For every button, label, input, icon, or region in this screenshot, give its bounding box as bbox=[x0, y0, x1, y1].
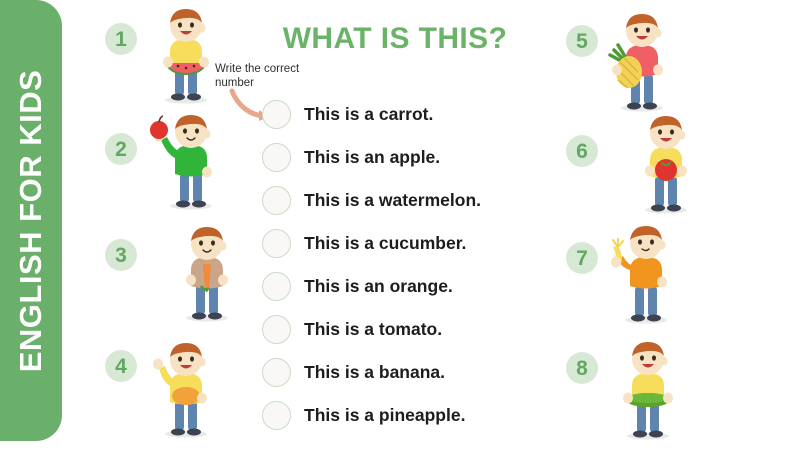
character-7-banana bbox=[604, 220, 682, 324]
character-3-carrot bbox=[170, 222, 244, 322]
character-2-apple bbox=[146, 112, 226, 210]
answer-label: This is a pineapple. bbox=[304, 405, 465, 426]
character-6-tomato bbox=[628, 108, 704, 214]
sidebar-title: ENGLISH FOR KIDS bbox=[13, 69, 49, 372]
hint-text: Write the correct number bbox=[215, 62, 313, 90]
answer-row[interactable]: This is an orange. bbox=[262, 265, 522, 308]
answer-label: This is a cucumber. bbox=[304, 233, 466, 254]
answer-input-circle[interactable] bbox=[262, 358, 291, 387]
answer-row[interactable]: This is an apple. bbox=[262, 136, 522, 179]
answer-row[interactable]: This is a carrot. bbox=[262, 93, 522, 136]
answer-row[interactable]: This is a banana. bbox=[262, 351, 522, 394]
answer-row[interactable]: This is a tomato. bbox=[262, 308, 522, 351]
number-badge-4: 4 bbox=[105, 350, 137, 382]
sidebar-banner: ENGLISH FOR KIDS bbox=[0, 0, 62, 441]
answer-input-circle[interactable] bbox=[262, 186, 291, 215]
character-1-watermelon bbox=[148, 8, 224, 104]
number-badge-2: 2 bbox=[105, 133, 137, 165]
page-title: WHAT IS THIS? bbox=[265, 22, 525, 56]
answer-list: This is a carrot. This is an apple. This… bbox=[262, 93, 522, 437]
answer-label: This is a carrot. bbox=[304, 104, 433, 125]
answer-label: This is a banana. bbox=[304, 362, 445, 383]
answer-input-circle[interactable] bbox=[262, 401, 291, 430]
answer-label: This is an apple. bbox=[304, 147, 440, 168]
number-badge-3: 3 bbox=[105, 239, 137, 271]
answer-input-circle[interactable] bbox=[262, 143, 291, 172]
number-badge-6: 6 bbox=[566, 135, 598, 167]
answer-row[interactable]: This is a watermelon. bbox=[262, 179, 522, 222]
character-8-cucumber bbox=[604, 330, 688, 440]
number-badge-7: 7 bbox=[566, 242, 598, 274]
character-4-orange bbox=[142, 334, 222, 438]
answer-label: This is an orange. bbox=[304, 276, 453, 297]
answer-row[interactable]: This is a cucumber. bbox=[262, 222, 522, 265]
answer-row[interactable]: This is a pineapple. bbox=[262, 394, 522, 437]
answer-label: This is a tomato. bbox=[304, 319, 442, 340]
answer-label: This is a watermelon. bbox=[304, 190, 481, 211]
answer-input-circle[interactable] bbox=[262, 100, 291, 129]
answer-input-circle[interactable] bbox=[262, 229, 291, 258]
number-badge-5: 5 bbox=[566, 25, 598, 57]
hint-block: Write the correct number bbox=[215, 62, 313, 90]
number-badge-8: 8 bbox=[566, 352, 598, 384]
answer-input-circle[interactable] bbox=[262, 315, 291, 344]
character-5-pineapple bbox=[600, 10, 680, 112]
answer-input-circle[interactable] bbox=[262, 272, 291, 301]
number-badge-1: 1 bbox=[105, 23, 137, 55]
